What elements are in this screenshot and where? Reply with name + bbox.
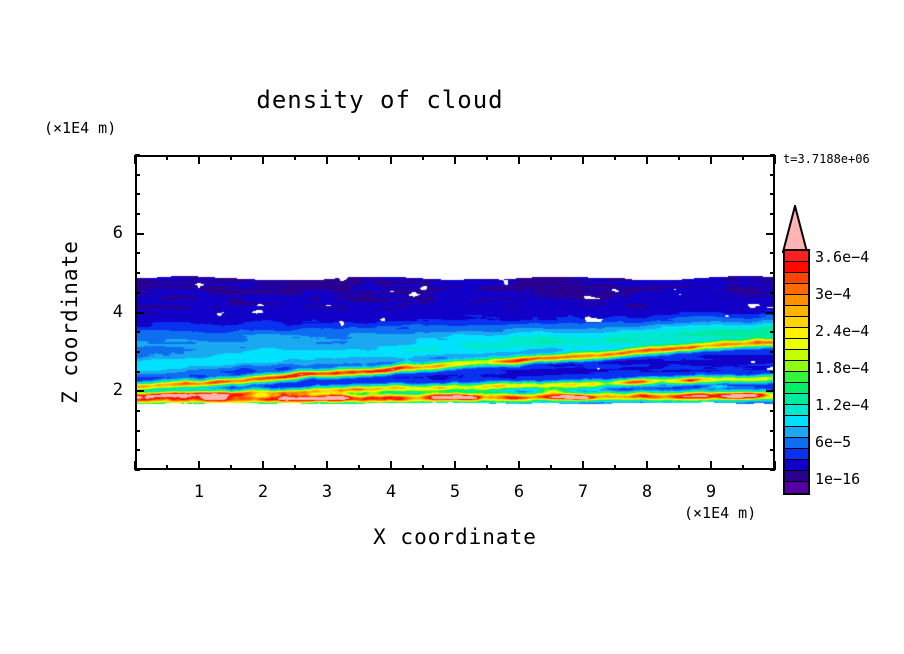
x-tick-label: 7 (568, 482, 598, 502)
colorbar-band (785, 449, 808, 460)
y-tick-right (770, 410, 775, 412)
x-tick-bottom (422, 465, 424, 470)
y-tick-left (135, 469, 140, 471)
colorbar-band (785, 317, 808, 328)
y-tick-right (766, 390, 775, 392)
x-tick-top (262, 155, 264, 164)
y-tick-left (135, 193, 140, 195)
colorbar-band (785, 394, 808, 405)
x-tick-bottom (678, 465, 680, 470)
y-tick-left (135, 174, 140, 176)
x-tick-label: 6 (504, 482, 534, 502)
x-tick-top (614, 155, 616, 160)
colorbar-band (785, 482, 808, 493)
y-tick-left (135, 233, 144, 235)
x-tick-bottom (390, 461, 392, 470)
y-tick-right (770, 371, 775, 373)
x-tick-bottom (550, 465, 552, 470)
x-axis-unit-label: (×1E4 m) (684, 504, 756, 522)
y-tick-right (770, 331, 775, 333)
y-tick-left (135, 312, 144, 314)
colorbar-tick-label: 3e−4 (815, 285, 851, 303)
y-tick-right (766, 312, 775, 314)
colorbar-band (785, 361, 808, 372)
x-tick-bottom (710, 461, 712, 470)
y-tick-left (135, 390, 144, 392)
colorbar-band (785, 328, 808, 339)
x-tick-top (198, 155, 200, 164)
x-tick-label: 1 (184, 482, 214, 502)
x-tick-label: 2 (248, 482, 278, 502)
x-tick-bottom (582, 461, 584, 470)
x-tick-top (582, 155, 584, 164)
x-tick-bottom (262, 461, 264, 470)
x-tick-label: 3 (312, 482, 342, 502)
y-tick-left (135, 272, 140, 274)
x-tick-top (166, 155, 168, 160)
colorbar-tick-label: 1e−16 (815, 470, 860, 488)
x-tick-top (326, 155, 328, 164)
x-tick-top (550, 155, 552, 160)
y-tick-left (135, 449, 140, 451)
x-tick-top (774, 155, 776, 164)
y-tick-right (770, 174, 775, 176)
colorbar-band (785, 372, 808, 383)
y-tick-left (135, 371, 140, 373)
x-tick-top (742, 155, 744, 160)
x-tick-top (358, 155, 360, 160)
colorbar-band (785, 339, 808, 350)
x-tick-top (422, 155, 424, 160)
axis-tick-layer: 123456789246 (0, 0, 904, 654)
y-tick-right (770, 252, 775, 254)
y-tick-label: 2 (93, 380, 123, 400)
y-tick-right (770, 292, 775, 294)
x-tick-bottom (358, 465, 360, 470)
y-tick-left (135, 292, 140, 294)
y-tick-left (135, 154, 140, 156)
colorbar-band (785, 284, 808, 295)
x-tick-top (678, 155, 680, 160)
colorbar-band (785, 416, 808, 427)
colorbar-band (785, 262, 808, 273)
y-tick-right (770, 193, 775, 195)
x-tick-top (486, 155, 488, 160)
colorbar-band (785, 438, 808, 449)
y-tick-right (770, 469, 775, 471)
y-tick-right (770, 272, 775, 274)
x-tick-label: 9 (696, 482, 726, 502)
x-tick-label: 8 (632, 482, 662, 502)
x-tick-bottom (198, 461, 200, 470)
x-tick-top (230, 155, 232, 160)
y-tick-label: 4 (93, 302, 123, 322)
y-tick-left (135, 331, 140, 333)
x-tick-bottom (326, 461, 328, 470)
colorbar-over-arrow-icon (782, 205, 808, 253)
x-tick-top (710, 155, 712, 164)
colorbar-band (785, 350, 808, 361)
colorbar-band (785, 383, 808, 394)
x-tick-bottom (518, 461, 520, 470)
colorbar-tick-label: 1.2e−4 (815, 396, 869, 414)
y-tick-right (766, 233, 775, 235)
x-tick-bottom (166, 465, 168, 470)
colorbar-tick-label: 3.6e−4 (815, 248, 869, 266)
x-tick-label: 4 (376, 482, 406, 502)
x-tick-bottom (742, 465, 744, 470)
x-tick-bottom (486, 465, 488, 470)
x-tick-bottom (646, 461, 648, 470)
x-tick-bottom (614, 465, 616, 470)
x-axis-title: X coordinate (135, 525, 775, 549)
colorbar-band (785, 251, 808, 262)
y-tick-right (770, 430, 775, 432)
x-tick-top (134, 155, 136, 164)
colorbar-band (785, 306, 808, 317)
x-tick-top (294, 155, 296, 160)
colorbar-band (785, 273, 808, 284)
x-tick-bottom (454, 461, 456, 470)
colorbar-band (785, 471, 808, 482)
y-tick-right (770, 351, 775, 353)
x-tick-bottom (230, 465, 232, 470)
y-tick-left (135, 252, 140, 254)
colorbar-tick-label: 2.4e−4 (815, 322, 869, 340)
x-tick-top (390, 155, 392, 164)
colorbar-band (785, 427, 808, 438)
x-tick-label: 5 (440, 482, 470, 502)
y-tick-left (135, 351, 140, 353)
y-tick-right (770, 449, 775, 451)
y-tick-right (770, 154, 775, 156)
x-tick-top (646, 155, 648, 164)
x-tick-bottom (294, 465, 296, 470)
y-tick-left (135, 410, 140, 412)
y-tick-right (770, 213, 775, 215)
colorbar-bands (783, 249, 810, 495)
colorbar-tick-label: 6e−5 (815, 433, 851, 451)
y-tick-left (135, 213, 140, 215)
x-tick-top (454, 155, 456, 164)
colorbar-band (785, 460, 808, 471)
y-tick-label: 6 (93, 223, 123, 243)
colorbar-tick-label: 1.8e−4 (815, 359, 869, 377)
colorbar-band (785, 405, 808, 416)
colorbar-band (785, 295, 808, 306)
x-tick-top (518, 155, 520, 164)
y-tick-left (135, 430, 140, 432)
